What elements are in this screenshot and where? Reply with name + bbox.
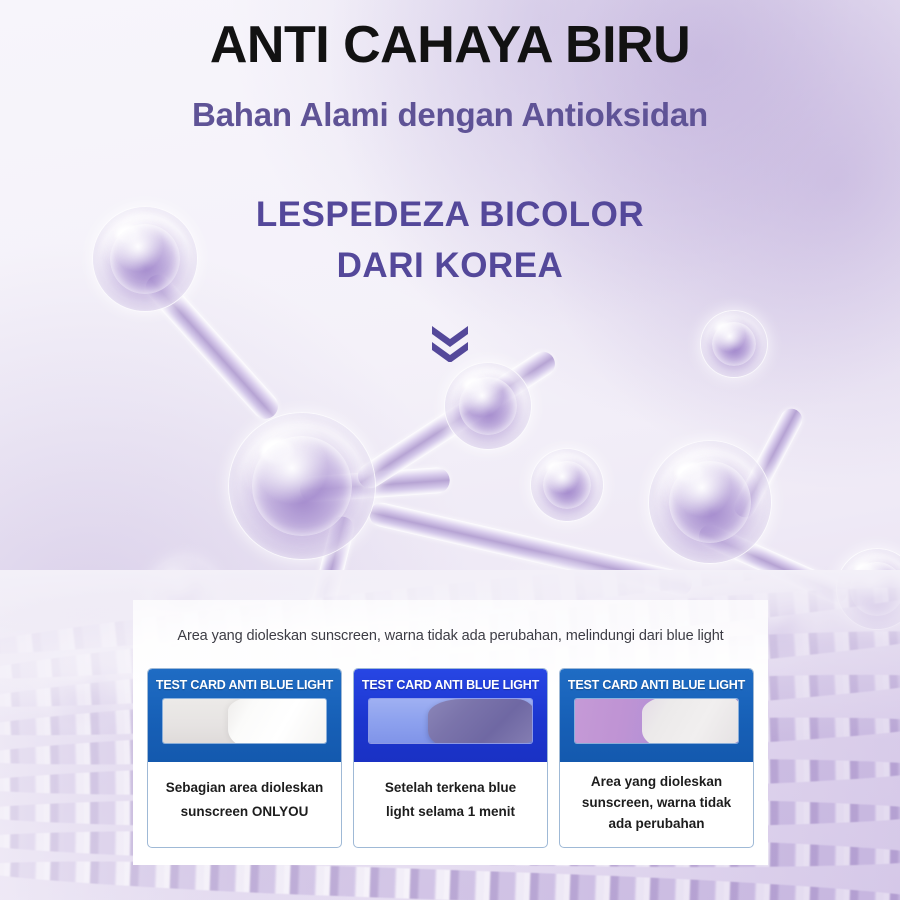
sunscreen-smear (228, 699, 326, 743)
test-card-caption-line: ada perubahan (568, 814, 745, 835)
test-card-header: TEST CARD ANTI BLUE LIGHT (148, 669, 341, 762)
test-card-caption-line: Setelah terkena blue (362, 776, 539, 800)
molecule-atom (530, 448, 604, 522)
ingredient-line-1: LESPEDEZA BICOLOR (0, 190, 900, 241)
ingredient-callout: LESPEDEZA BICOLOR DARI KOREA (0, 190, 900, 292)
test-card: TEST CARD ANTI BLUE LIGHT Sebagian area … (147, 668, 342, 848)
test-card: TEST CARD ANTI BLUE LIGHT Setelah terken… (353, 668, 548, 848)
sunscreen-smear (642, 699, 738, 743)
ingredient-line-2: DARI KOREA (0, 241, 900, 292)
test-card-caption-line: Sebagian area dioleskan (156, 776, 333, 800)
test-card-caption-line: sunscreen, warna tidak (568, 793, 745, 814)
molecule-atom (444, 362, 532, 450)
test-card-swatch (163, 699, 326, 743)
product-poster: ANTI CAHAYA BIRU Bahan Alami dengan Anti… (0, 0, 900, 900)
test-card-caption: Setelah terkena blue light selama 1 meni… (354, 762, 547, 847)
double-chevron-down-icon (0, 322, 900, 362)
test-card-swatch (369, 699, 532, 743)
page-title: ANTI CAHAYA BIRU (0, 18, 900, 73)
test-result-panel: Area yang dioleskan sunscreen, warna tid… (133, 600, 768, 865)
test-card-swatch (575, 699, 738, 743)
test-card-header-label: TEST CARD ANTI BLUE LIGHT (154, 678, 335, 692)
test-card-caption-line: sunscreen ONLYOU (156, 800, 333, 824)
test-card-caption: Sebagian area dioleskan sunscreen ONLYOU (148, 762, 341, 847)
molecule-atom (648, 440, 772, 564)
molecule-atom (228, 412, 376, 560)
test-card-list: TEST CARD ANTI BLUE LIGHT Sebagian area … (147, 668, 754, 848)
test-card-header: TEST CARD ANTI BLUE LIGHT (560, 669, 753, 762)
test-card-caption-line: light selama 1 menit (362, 800, 539, 824)
sunscreen-smear (428, 699, 532, 743)
test-card-caption-line: Area yang dioleskan (568, 772, 745, 793)
test-card: TEST CARD ANTI BLUE LIGHT Area yang diol… (559, 668, 754, 848)
test-card-header: TEST CARD ANTI BLUE LIGHT (354, 669, 547, 762)
test-card-caption: Area yang dioleskan sunscreen, warna tid… (560, 762, 753, 847)
test-card-header-label: TEST CARD ANTI BLUE LIGHT (566, 678, 747, 692)
panel-caption: Area yang dioleskan sunscreen, warna tid… (133, 628, 768, 644)
page-subtitle: Bahan Alami dengan Antioksidan (0, 96, 900, 134)
test-card-header-label: TEST CARD ANTI BLUE LIGHT (360, 678, 541, 692)
